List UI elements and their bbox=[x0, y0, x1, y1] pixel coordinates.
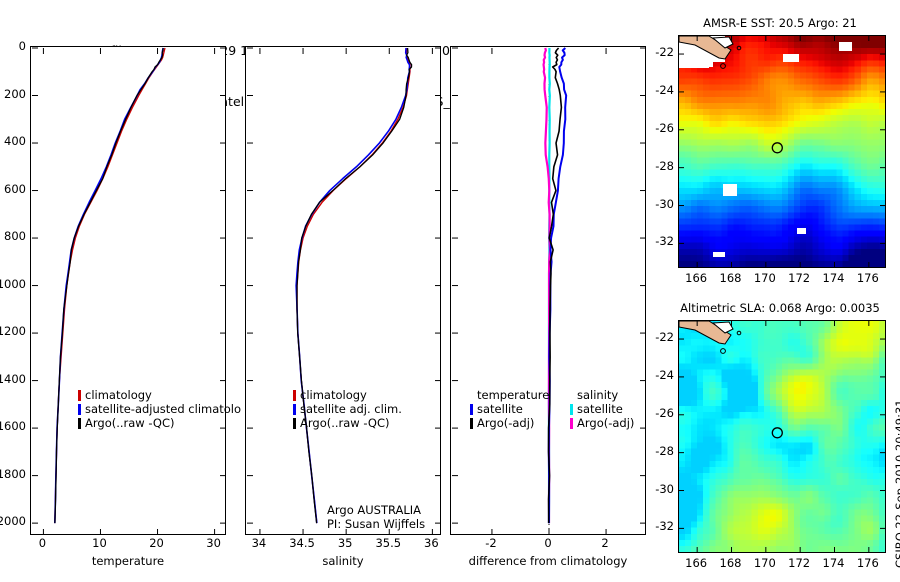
difference-axis-label: difference from climatology bbox=[450, 554, 646, 568]
legend-label: Argo(..raw -QC) bbox=[300, 416, 390, 430]
map-ytick-label: -26 bbox=[650, 121, 674, 135]
legend-label: satellite bbox=[477, 402, 523, 416]
legend-label: climatology bbox=[300, 388, 367, 402]
temperature-axis-label: temperature bbox=[30, 554, 226, 568]
argo-australia-annotation: Argo AUSTRALIA PI: Susan Wijffels bbox=[327, 503, 425, 531]
legend-swatch bbox=[78, 390, 81, 401]
temperature-legend: climatologysatellite-adjusted climatoloA… bbox=[78, 388, 241, 430]
map-ytick-label: -28 bbox=[650, 444, 674, 458]
argo-australia-line2: PI: Susan Wijffels bbox=[327, 517, 425, 531]
legend-swatch bbox=[470, 418, 473, 429]
sla-map-title: Altimetric SLA: 0.068 Argo: 0.0035 bbox=[670, 301, 890, 315]
legend-swatch bbox=[570, 418, 573, 429]
map-xtick-label: 176 bbox=[846, 271, 890, 285]
ytick-label: 1400 bbox=[0, 372, 26, 386]
legend-item: Argo(..raw -QC) bbox=[293, 416, 402, 430]
xtick-label: 20 bbox=[127, 536, 187, 550]
legend-item: Argo(-adj) bbox=[570, 416, 634, 430]
legend-item: climatology bbox=[293, 388, 402, 402]
ytick-label: 1000 bbox=[0, 277, 26, 291]
ytick-label: 800 bbox=[0, 229, 26, 243]
salinity-profile-curves bbox=[246, 47, 442, 536]
map-ytick-label: -22 bbox=[650, 330, 674, 344]
difference-legend-temperature: temperaturesatelliteArgo(-adj) bbox=[470, 388, 549, 430]
legend-swatch bbox=[293, 404, 296, 415]
legend-label: satellite adj. clim. bbox=[300, 402, 402, 416]
map-ytick-label: -24 bbox=[650, 368, 674, 382]
ytick-label: 0 bbox=[0, 39, 26, 53]
sst-map-title: AMSR-E SST: 20.5 Argo: 21 bbox=[670, 16, 890, 30]
xtick-label: 0 bbox=[12, 536, 72, 550]
legend-item: satellite bbox=[470, 402, 549, 416]
legend-swatch bbox=[293, 390, 296, 401]
legend-label: satellite-adjusted climatolo bbox=[85, 402, 241, 416]
legend-item: satellite bbox=[570, 402, 634, 416]
xtick-label: 2 bbox=[575, 536, 635, 550]
map-ytick-label: -30 bbox=[650, 482, 674, 496]
csiro-timestamp: CSIRO 22-Sep-2010 20:49:31 bbox=[893, 399, 900, 568]
sla-map-field[interactable] bbox=[679, 321, 885, 552]
legend-item: climatology bbox=[78, 388, 241, 402]
legend-label: climatology bbox=[85, 388, 152, 402]
map-ytick-label: -24 bbox=[650, 83, 674, 97]
map-ytick-label: -28 bbox=[650, 159, 674, 173]
ytick-label: 400 bbox=[0, 134, 26, 148]
xtick-label: -2 bbox=[461, 536, 521, 550]
legend-label: Argo(-adj) bbox=[577, 416, 634, 430]
temperature-profile-curves bbox=[31, 47, 227, 536]
salinity-legend: climatologysatellite adj. clim.Argo(..ra… bbox=[293, 388, 402, 430]
legend-item: satellite adj. clim. bbox=[293, 402, 402, 416]
legend-heading: salinity bbox=[570, 388, 634, 402]
map-ytick-label: -32 bbox=[650, 519, 674, 533]
sst-map-field[interactable] bbox=[679, 36, 885, 267]
legend-heading: temperature bbox=[470, 388, 549, 402]
xtick-label: 10 bbox=[69, 536, 129, 550]
xtick-label: 0 bbox=[518, 536, 578, 550]
argo-australia-line1: Argo AUSTRALIA bbox=[327, 503, 425, 517]
legend-label: satellite bbox=[577, 402, 623, 416]
difference-legend-salinity: salinitysatelliteArgo(-adj) bbox=[570, 388, 634, 430]
ytick-label: 1200 bbox=[0, 324, 26, 338]
map-ytick-label: -32 bbox=[650, 234, 674, 248]
ytick-label: 1600 bbox=[0, 419, 26, 433]
map-ytick-label: -30 bbox=[650, 197, 674, 211]
map-ytick-label: -26 bbox=[650, 406, 674, 420]
legend-swatch bbox=[570, 404, 573, 415]
legend-swatch bbox=[293, 418, 296, 429]
legend-item: Argo(..raw -QC) bbox=[78, 416, 241, 430]
legend-label: Argo(-adj) bbox=[477, 416, 534, 430]
legend-item: Argo(-adj) bbox=[470, 416, 549, 430]
xtick-label: 36 bbox=[401, 536, 461, 550]
difference-profile-curves bbox=[451, 47, 647, 536]
map-ytick-label: -22 bbox=[650, 45, 674, 59]
legend-swatch bbox=[78, 418, 81, 429]
ytick-label: 600 bbox=[0, 182, 26, 196]
legend-item: satellite-adjusted climatolo bbox=[78, 402, 241, 416]
ytick-label: 2000 bbox=[0, 514, 26, 528]
ytick-label: 200 bbox=[0, 87, 26, 101]
legend-swatch bbox=[470, 404, 473, 415]
ytick-label: 1800 bbox=[0, 467, 26, 481]
map-xtick-label: 176 bbox=[846, 556, 890, 570]
salinity-axis-label: salinity bbox=[245, 554, 441, 568]
legend-swatch bbox=[78, 404, 81, 415]
legend-label: Argo(..raw -QC) bbox=[85, 416, 175, 430]
